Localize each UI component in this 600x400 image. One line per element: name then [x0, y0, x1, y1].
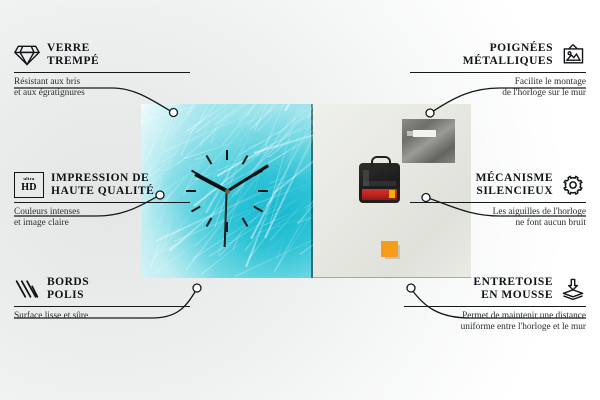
feature-entretoise-en-mousse[interactable]: ENTRETOISE EN MOUSSE Permet de maintenir…: [404, 276, 586, 334]
feature-title-line2: EN MOUSSE: [473, 289, 553, 302]
divider: [410, 72, 586, 73]
feature-mecanisme-silencieux[interactable]: MÉCANISME SILENCIEUX Les aiguilles de l'…: [410, 172, 586, 230]
feature-title-line2: POLIS: [47, 289, 89, 302]
metal-hanger-bracket: [402, 119, 455, 163]
feature-subtitle: Résistant aux bris et aux égratignures: [14, 77, 190, 100]
framed-picture-hanging-icon: [560, 43, 586, 67]
divider: [14, 306, 190, 307]
feature-verre-trempe[interactable]: VERRE TREMPÉ Résistant aux bris et aux é…: [14, 42, 190, 100]
divider: [404, 306, 586, 307]
foam-spacer: [381, 241, 398, 257]
hanger-loop: [371, 156, 391, 167]
feature-title-line2: TREMPÉ: [47, 55, 99, 68]
divider: [14, 72, 190, 73]
feature-impression-haute-qualite[interactable]: ultra HD IMPRESSION DE HAUTE QUALITÉ Cou…: [14, 172, 190, 230]
feature-title-line1: POIGNÉES: [463, 42, 553, 55]
arrow-onto-layers-icon: [560, 277, 586, 301]
feature-bords-polis[interactable]: BORDS POLIS Surface lisse et sûre: [14, 276, 190, 322]
feature-subtitle: Surface lisse et sûre: [14, 311, 190, 322]
feature-title-line2: MÉTALLIQUES: [463, 55, 553, 68]
feature-title-line2: HAUTE QUALITÉ: [51, 185, 154, 198]
ultra-hd-large-text: HD: [21, 183, 37, 193]
feature-title-line2: SILENCIEUX: [476, 185, 553, 198]
feature-title-line1: ENTRETOISE: [473, 276, 553, 289]
divider: [14, 202, 190, 203]
diamond-icon: [14, 43, 40, 67]
polished-edges-icon: [14, 277, 40, 301]
gear-icon: [560, 173, 586, 197]
feature-title-line1: VERRE: [47, 42, 99, 55]
feature-title-line1: IMPRESSION DE: [51, 172, 154, 185]
feature-poignees-metalliques[interactable]: POIGNÉES MÉTALLIQUES Facilite le montage…: [410, 42, 586, 100]
feature-subtitle: Les aiguilles de l'horloge ne font aucun…: [410, 207, 586, 230]
clock-mechanism: [359, 163, 400, 203]
feature-title-line1: BORDS: [47, 276, 89, 289]
feature-subtitle: Facilite le montage de l'horloge sur le …: [410, 77, 586, 100]
feature-subtitle: Couleurs intenses et image claire: [14, 207, 190, 230]
aa-battery: [362, 189, 397, 200]
feature-subtitle: Permet de maintenir une distance uniform…: [404, 311, 586, 334]
divider: [410, 202, 586, 203]
ultra-hd-icon: ultra HD: [14, 172, 44, 198]
clock-center-pin: [225, 189, 230, 194]
infographic-canvas: VERRE TREMPÉ Résistant aux bris et aux é…: [0, 0, 600, 400]
feature-title-line1: MÉCANISME: [476, 172, 553, 185]
